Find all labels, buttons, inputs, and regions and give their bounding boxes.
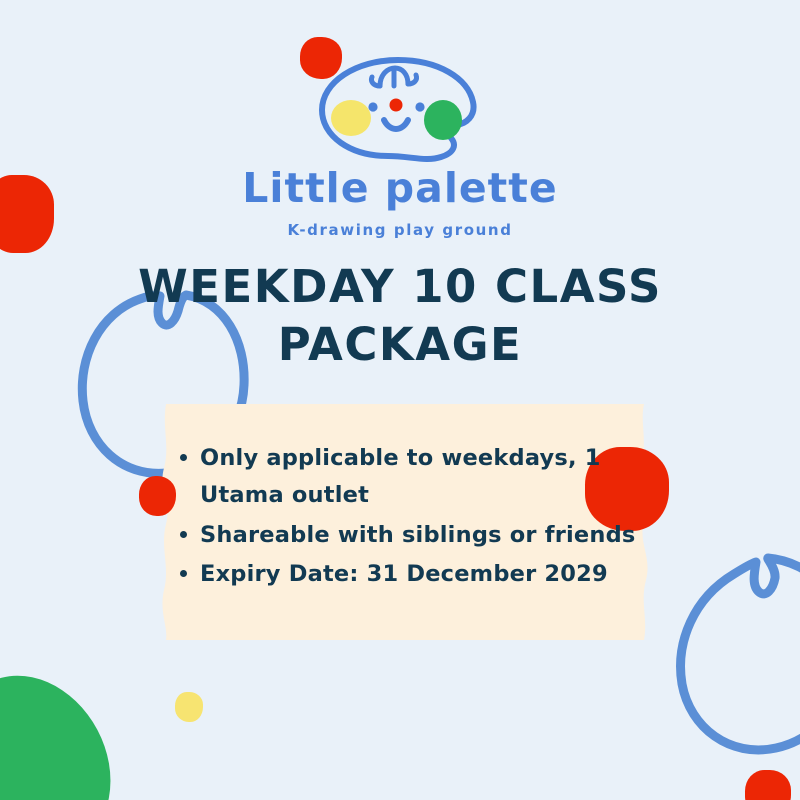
brand-logo: Little palette K-drawing play ground [0, 52, 800, 239]
headline-line-1: WEEKDAY 10 CLASS [0, 258, 800, 316]
poster-canvas: Little palette K-drawing play ground WEE… [0, 0, 800, 800]
list-item: Shareable with siblings or friends [178, 517, 678, 554]
red-blob-bottom-right [745, 770, 791, 800]
brand-name: Little palette [242, 168, 557, 209]
headline-line-2: PACKAGE [0, 316, 800, 374]
blue-outline-blob-right [672, 548, 800, 768]
list-item: Expiry Date: 31 December 2029 [178, 556, 678, 593]
yellow-dot-bottom [175, 692, 203, 722]
brand-tagline: K-drawing play ground [287, 221, 512, 239]
palette-face-logo [310, 52, 490, 162]
list-item: Only applicable to weekdays, 1 Utama out… [178, 440, 678, 515]
green-ellipse-bottom-left [0, 648, 141, 800]
page-title: WEEKDAY 10 CLASS PACKAGE [0, 258, 800, 373]
terms-list: Only applicable to weekdays, 1 Utama out… [178, 440, 678, 595]
